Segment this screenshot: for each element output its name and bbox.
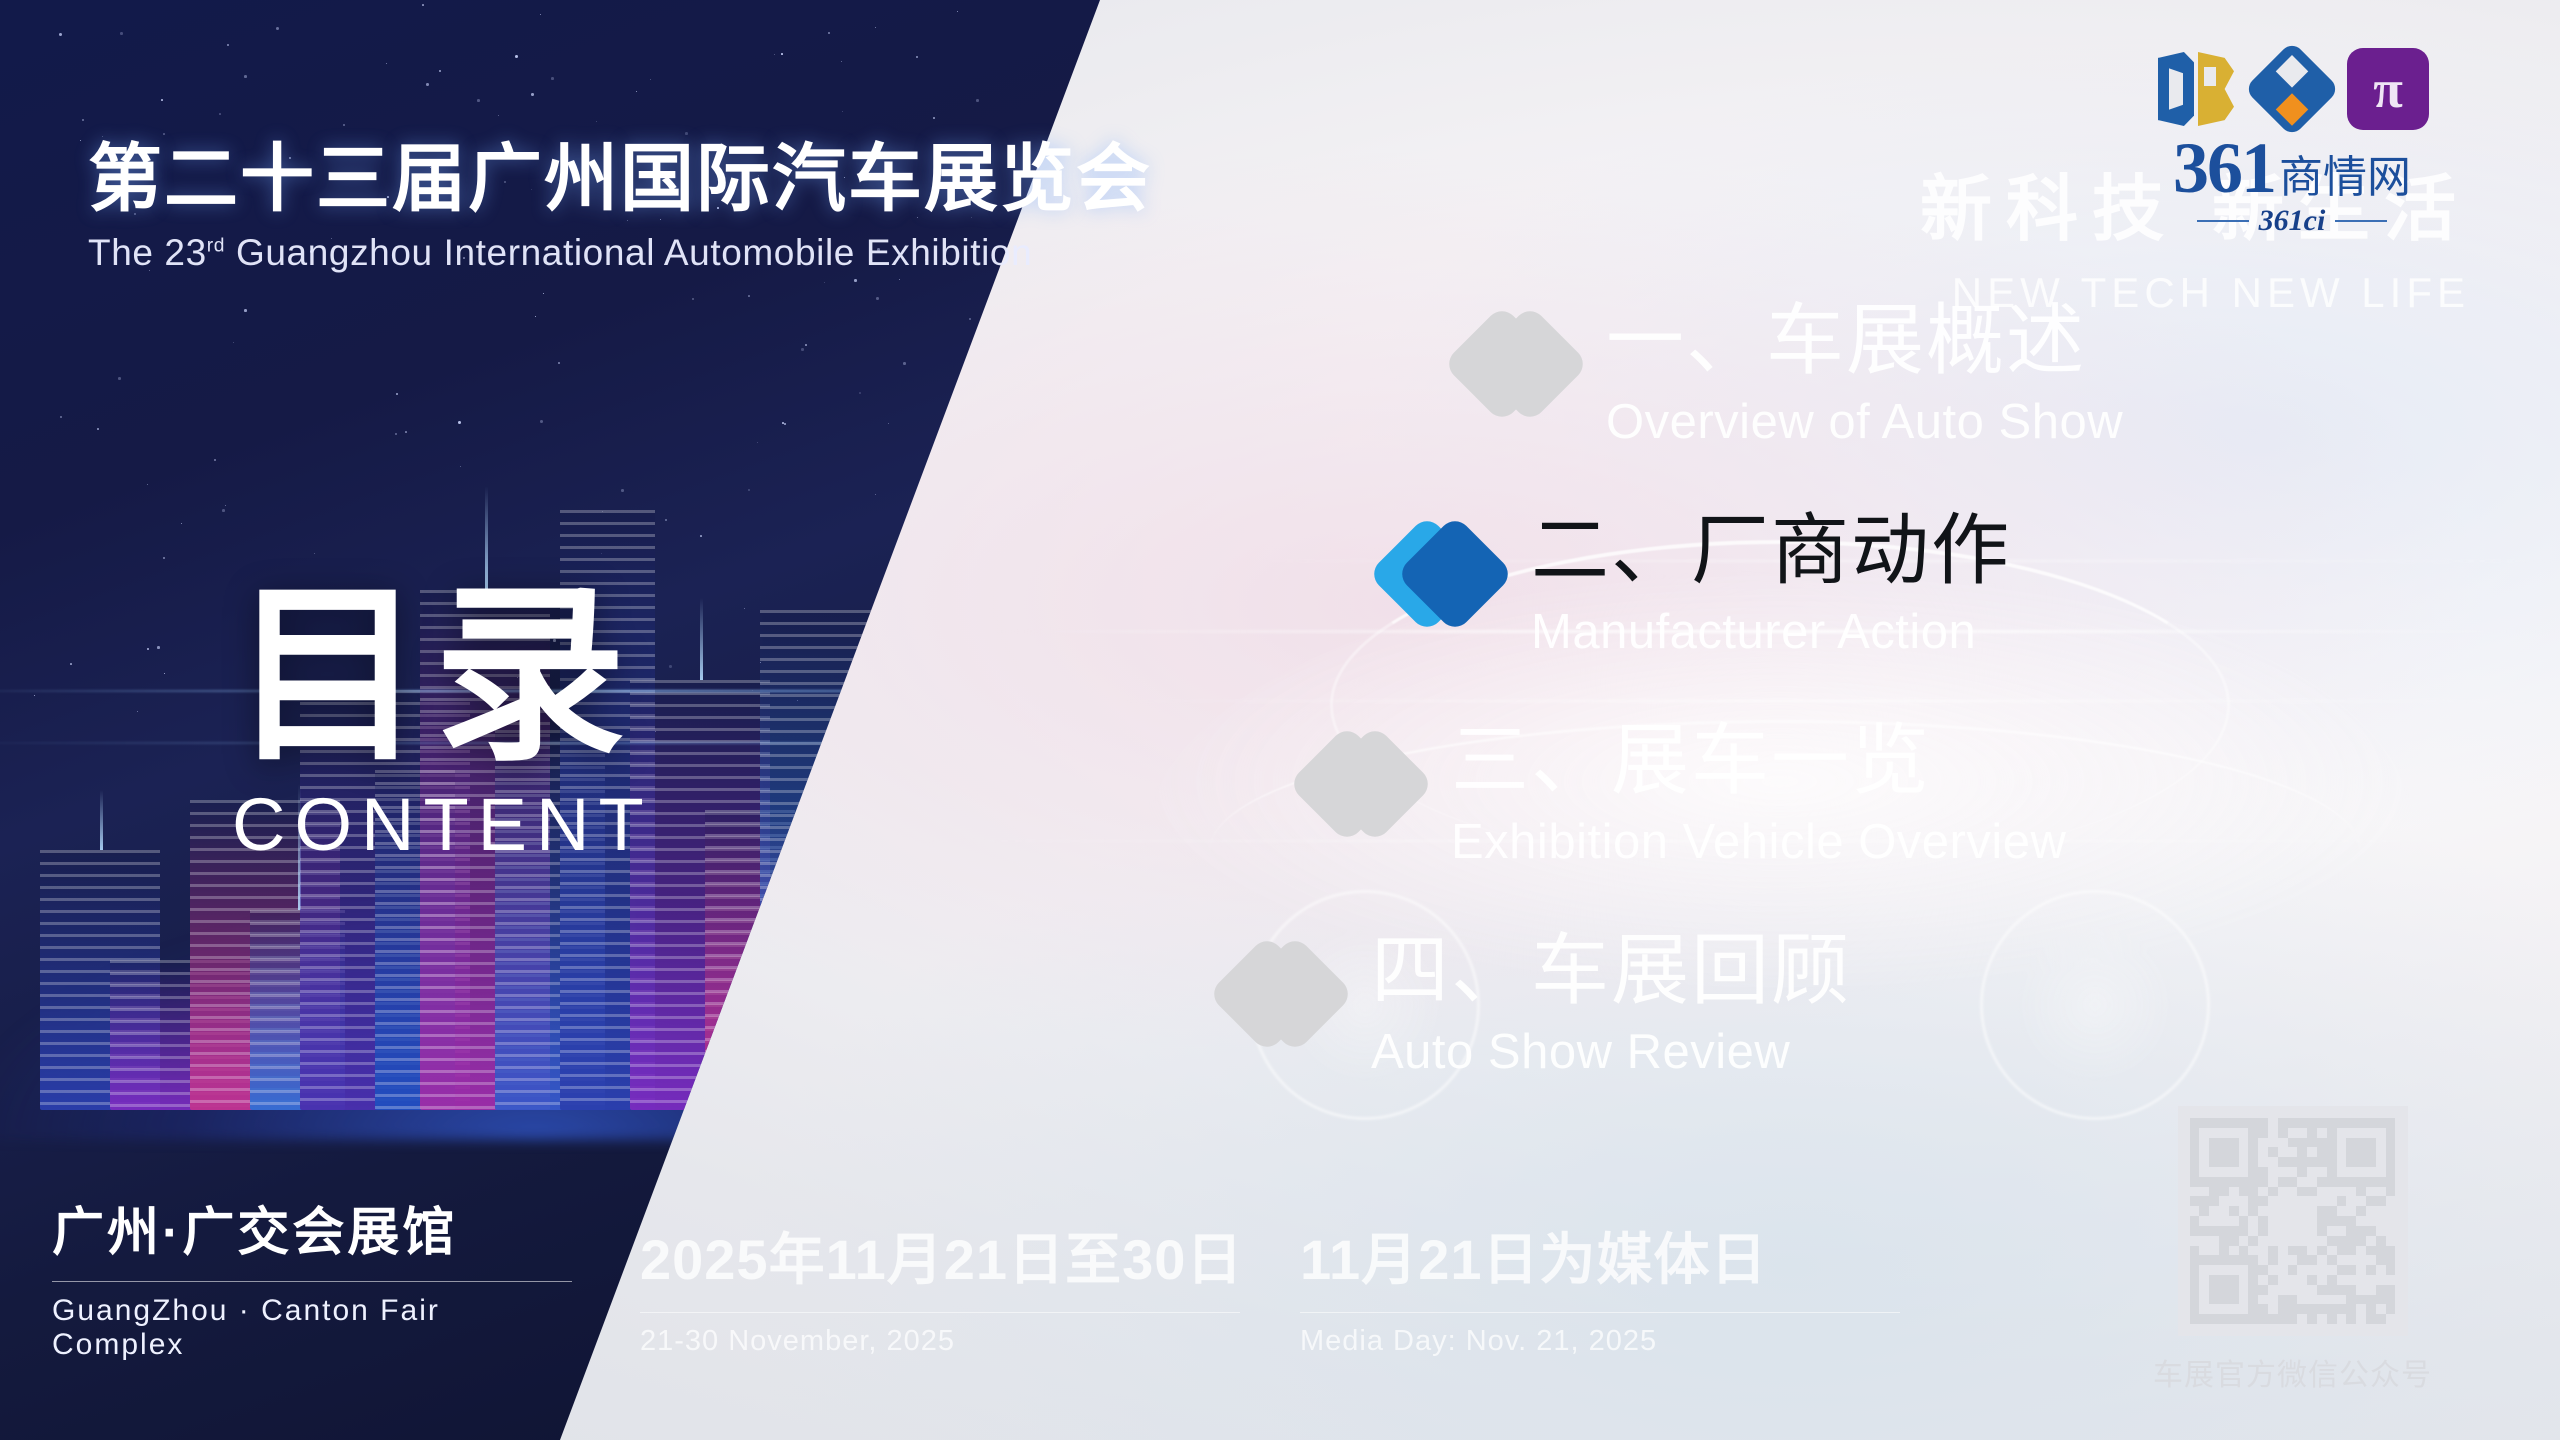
presentation-slide: 第二十三届广州国际汽车展览会 The 23rd Guangzhou Intern…	[0, 0, 2560, 1440]
table-of-contents: 一、车展概述 Overview of Auto Show 二、厂商动作 Manu…	[0, 300, 2560, 1140]
date-divider	[640, 1312, 1240, 1313]
venue-name-en: GuangZhou · Canton Fair Complex	[52, 1294, 572, 1362]
media-day-en: Media Day: Nov. 21, 2025	[1300, 1325, 1900, 1358]
media-day: 11月21日为媒体日 Media Day: Nov. 21, 2025	[1300, 1215, 1900, 1358]
venue-name-cn: 广州·广交会展馆	[52, 1190, 572, 1265]
watermark-brand: 361 商情网	[2142, 134, 2442, 202]
qr-code-caption: 车展官方微信公众号	[2153, 1350, 2432, 1394]
pi-logo-icon: π	[2347, 48, 2429, 130]
diamond-logo-icon	[2251, 48, 2333, 130]
venue-block: 广州·广交会展馆 GuangZhou · Canton Fair Complex	[52, 1190, 572, 1362]
toc-item-4-label-cn: 四、车展回顾	[1371, 930, 1851, 1012]
toc-item-2-label-cn: 二、厂商动作	[1531, 510, 2011, 592]
watermark-number: 361	[2173, 134, 2275, 202]
media-day-cn: 11月21日为媒体日	[1300, 1215, 1900, 1296]
watermark-icon-row: π	[2142, 48, 2442, 130]
dates-block: 2025年11月21日至30日 21-30 November, 2025 11月…	[640, 1215, 1900, 1358]
toc-item-1-label-cn: 一、车展概述	[1606, 300, 2123, 382]
toc-item-1[interactable]: 一、车展概述 Overview of Auto Show	[1460, 300, 2560, 450]
double-diamond-icon	[1460, 308, 1572, 420]
watermark-domain: 361ci	[2259, 204, 2326, 238]
db-logo-icon	[2155, 48, 2237, 130]
toc-item-1-label-en: Overview of Auto Show	[1606, 394, 2123, 450]
toc-item-4[interactable]: 四、车展回顾 Auto Show Review	[1225, 930, 2560, 1080]
watermark-brand-cn: 商情网	[2279, 156, 2411, 200]
toc-item-4-label-en: Auto Show Review	[1371, 1024, 1851, 1080]
watermark-subtitle: 361ci	[2142, 204, 2442, 238]
qr-code-image	[2178, 1106, 2408, 1336]
double-diamond-icon	[1385, 518, 1497, 630]
watermark-logo: π 361 商情网 361ci	[2142, 48, 2442, 238]
media-day-divider	[1300, 1312, 1900, 1313]
double-diamond-icon	[1305, 728, 1417, 840]
date-range-en: 21-30 November, 2025	[640, 1325, 1240, 1358]
double-diamond-icon	[1225, 938, 1337, 1050]
venue-divider	[52, 1281, 572, 1282]
toc-item-2[interactable]: 二、厂商动作 Manufacturer Action	[1385, 510, 2560, 660]
date-range: 2025年11月21日至30日 21-30 November, 2025	[640, 1215, 1240, 1358]
toc-item-2-label-en: Manufacturer Action	[1531, 604, 2011, 660]
toc-item-3-label-cn: 三、展车一览	[1451, 720, 2066, 802]
toc-item-3[interactable]: 三、展车一览 Exhibition Vehicle Overview	[1305, 720, 2560, 870]
toc-item-3-label-en: Exhibition Vehicle Overview	[1451, 814, 2066, 870]
qr-code-block: 车展官方微信公众号	[2153, 1106, 2432, 1394]
date-range-cn: 2025年11月21日至30日	[640, 1215, 1240, 1296]
